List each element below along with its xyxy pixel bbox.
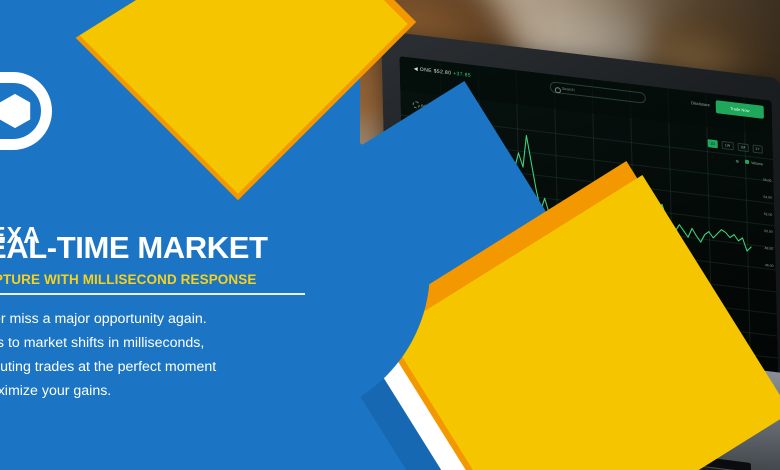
promo-banner: ◀ ONE $52.80 +37.85 Search Disclosure Tr… (0, 0, 780, 470)
body-copy: ever miss a major opportunity again. act… (0, 307, 318, 403)
page-title: EAL-TIME MARKET (0, 232, 326, 263)
logo-mark (0, 72, 52, 150)
hexagon-icon (0, 92, 34, 130)
title-divider (0, 293, 305, 295)
body-line: xecuting trades at the perfect moment (0, 355, 318, 379)
banner-content: IVEXA EAL-TIME MARKET APTURE WITH MILLIS… (0, 0, 330, 470)
body-line: maximize your gains. (0, 379, 318, 403)
body-line: acts to market shifts in milliseconds, (0, 331, 318, 355)
body-line: ever miss a major opportunity again. (0, 307, 318, 331)
page-subtitle: APTURE WITH MILLISECOND RESPONSE (0, 272, 329, 287)
logo[interactable]: IVEXA (0, 72, 124, 150)
